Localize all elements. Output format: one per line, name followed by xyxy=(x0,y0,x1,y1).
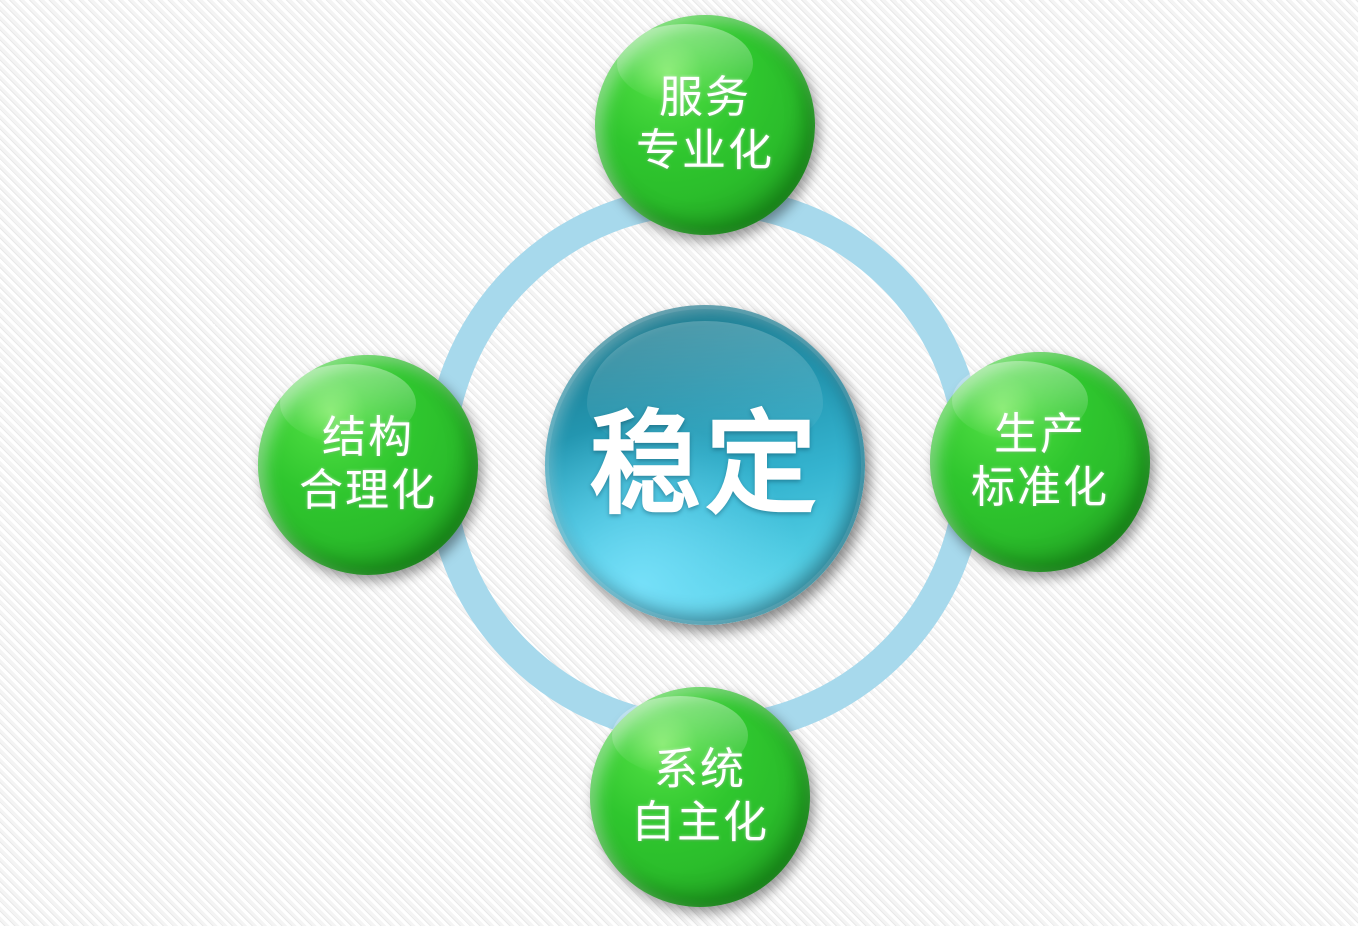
node-bottom-label-line2: 自主化 xyxy=(631,797,769,850)
node-top-label-line2: 专业化 xyxy=(636,125,774,178)
diagram-canvas: 服务 专业化 生产 标准化 系统 自主化 结构 合理化 稳定 xyxy=(0,0,1358,926)
node-left-label-line1: 结构 xyxy=(299,412,437,465)
node-bottom-label: 系统 自主化 xyxy=(631,744,769,850)
node-top-label-line1: 服务 xyxy=(636,72,774,125)
node-right-label-line1: 生产 xyxy=(971,409,1109,462)
node-center-stability[interactable]: 稳定 xyxy=(545,305,865,625)
node-system-autonomy[interactable]: 系统 自主化 xyxy=(590,687,810,907)
node-right-label-line2: 标准化 xyxy=(971,462,1109,515)
node-left-label-line2: 合理化 xyxy=(299,465,437,518)
center-label: 稳定 xyxy=(589,406,821,524)
node-right-label: 生产 标准化 xyxy=(971,409,1109,515)
node-left-label: 结构 合理化 xyxy=(299,412,437,518)
node-bottom-label-line1: 系统 xyxy=(631,744,769,797)
node-service-professionalization[interactable]: 服务 专业化 xyxy=(595,15,815,235)
node-production-standardization[interactable]: 生产 标准化 xyxy=(930,352,1150,572)
node-top-label: 服务 专业化 xyxy=(636,72,774,178)
node-structure-rationalization[interactable]: 结构 合理化 xyxy=(258,355,478,575)
